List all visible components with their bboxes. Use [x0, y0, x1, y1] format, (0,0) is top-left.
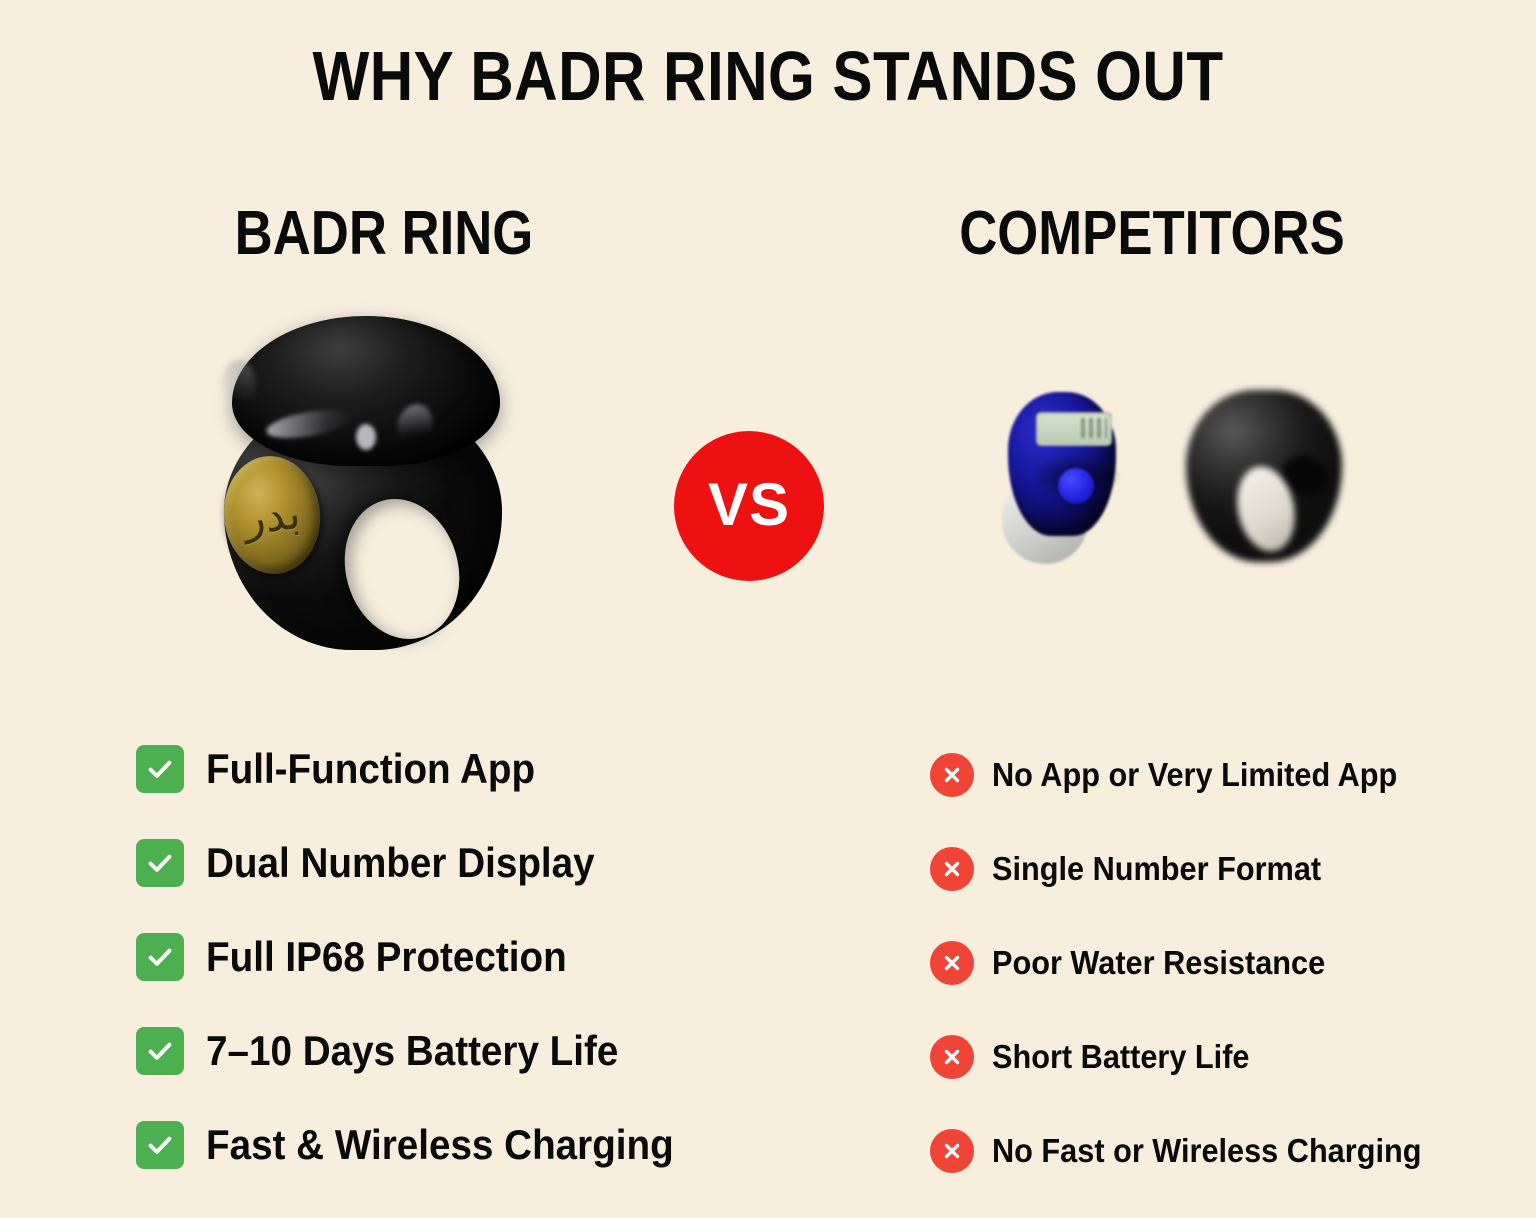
check-icon — [136, 1121, 184, 1169]
competitor-blue-counter-ring-image — [996, 386, 1124, 564]
list-item: No Fast or Wireless Charging — [930, 1104, 1454, 1198]
list-item-label: Short Battery Life — [992, 1038, 1249, 1076]
vs-label: VS — [708, 470, 790, 539]
competitor-ring-body — [1008, 392, 1116, 536]
x-icon — [930, 941, 974, 985]
list-item-label: Full IP68 Protection — [206, 933, 567, 981]
competitor-gray-ring-image — [1186, 390, 1342, 562]
page-title: WHY BADR RING STANDS OUT — [108, 36, 1429, 116]
badr-feature-list: Full-Function App Dual Number Display Fu… — [136, 722, 714, 1192]
list-item: Poor Water Resistance — [930, 916, 1454, 1010]
arabic-calligraphy-glyph: بدر — [242, 492, 303, 542]
list-item: Dual Number Display — [136, 816, 714, 910]
infographic-canvas: WHY BADR RING STANDS OUT BADR RING COMPE… — [0, 0, 1536, 1218]
list-item: Short Battery Life — [930, 1010, 1454, 1104]
check-icon — [136, 745, 184, 793]
ring-highlight-center — [356, 424, 376, 450]
x-icon — [930, 1129, 974, 1173]
column-heading-badr: BADR RING — [58, 198, 711, 269]
list-item-label: Full-Function App — [206, 745, 535, 793]
x-icon — [930, 753, 974, 797]
list-item: 7–10 Days Battery Life — [136, 1004, 714, 1098]
list-item-label: Single Number Format — [992, 850, 1321, 888]
check-icon — [136, 933, 184, 981]
check-icon — [136, 1027, 184, 1075]
list-item: No App or Very Limited App — [930, 728, 1454, 822]
competitor-lcd-screen — [1036, 412, 1112, 446]
x-icon — [930, 1035, 974, 1079]
competitor-counter-button — [1058, 468, 1094, 504]
list-item-label: 7–10 Days Battery Life — [206, 1027, 618, 1075]
list-item: Full-Function App — [136, 722, 714, 816]
competitor-feature-list: No App or Very Limited App Single Number… — [930, 728, 1454, 1198]
vs-badge: VS — [674, 431, 824, 581]
list-item: Full IP68 Protection — [136, 910, 714, 1004]
list-item-label: Dual Number Display — [206, 839, 595, 887]
x-icon — [930, 847, 974, 891]
ring-highlight-edge — [222, 360, 256, 412]
column-heading-competitors: COMPETITORS — [826, 198, 1479, 269]
list-item-label: No Fast or Wireless Charging — [992, 1132, 1421, 1170]
badr-ring-product-image: بدر — [208, 308, 518, 653]
list-item-label: No App or Very Limited App — [992, 756, 1397, 794]
list-item: Single Number Format — [930, 822, 1454, 916]
check-icon — [136, 839, 184, 887]
list-item-label: Fast & Wireless Charging — [206, 1121, 674, 1169]
list-item: Fast & Wireless Charging — [136, 1098, 714, 1192]
list-item-label: Poor Water Resistance — [992, 944, 1325, 982]
